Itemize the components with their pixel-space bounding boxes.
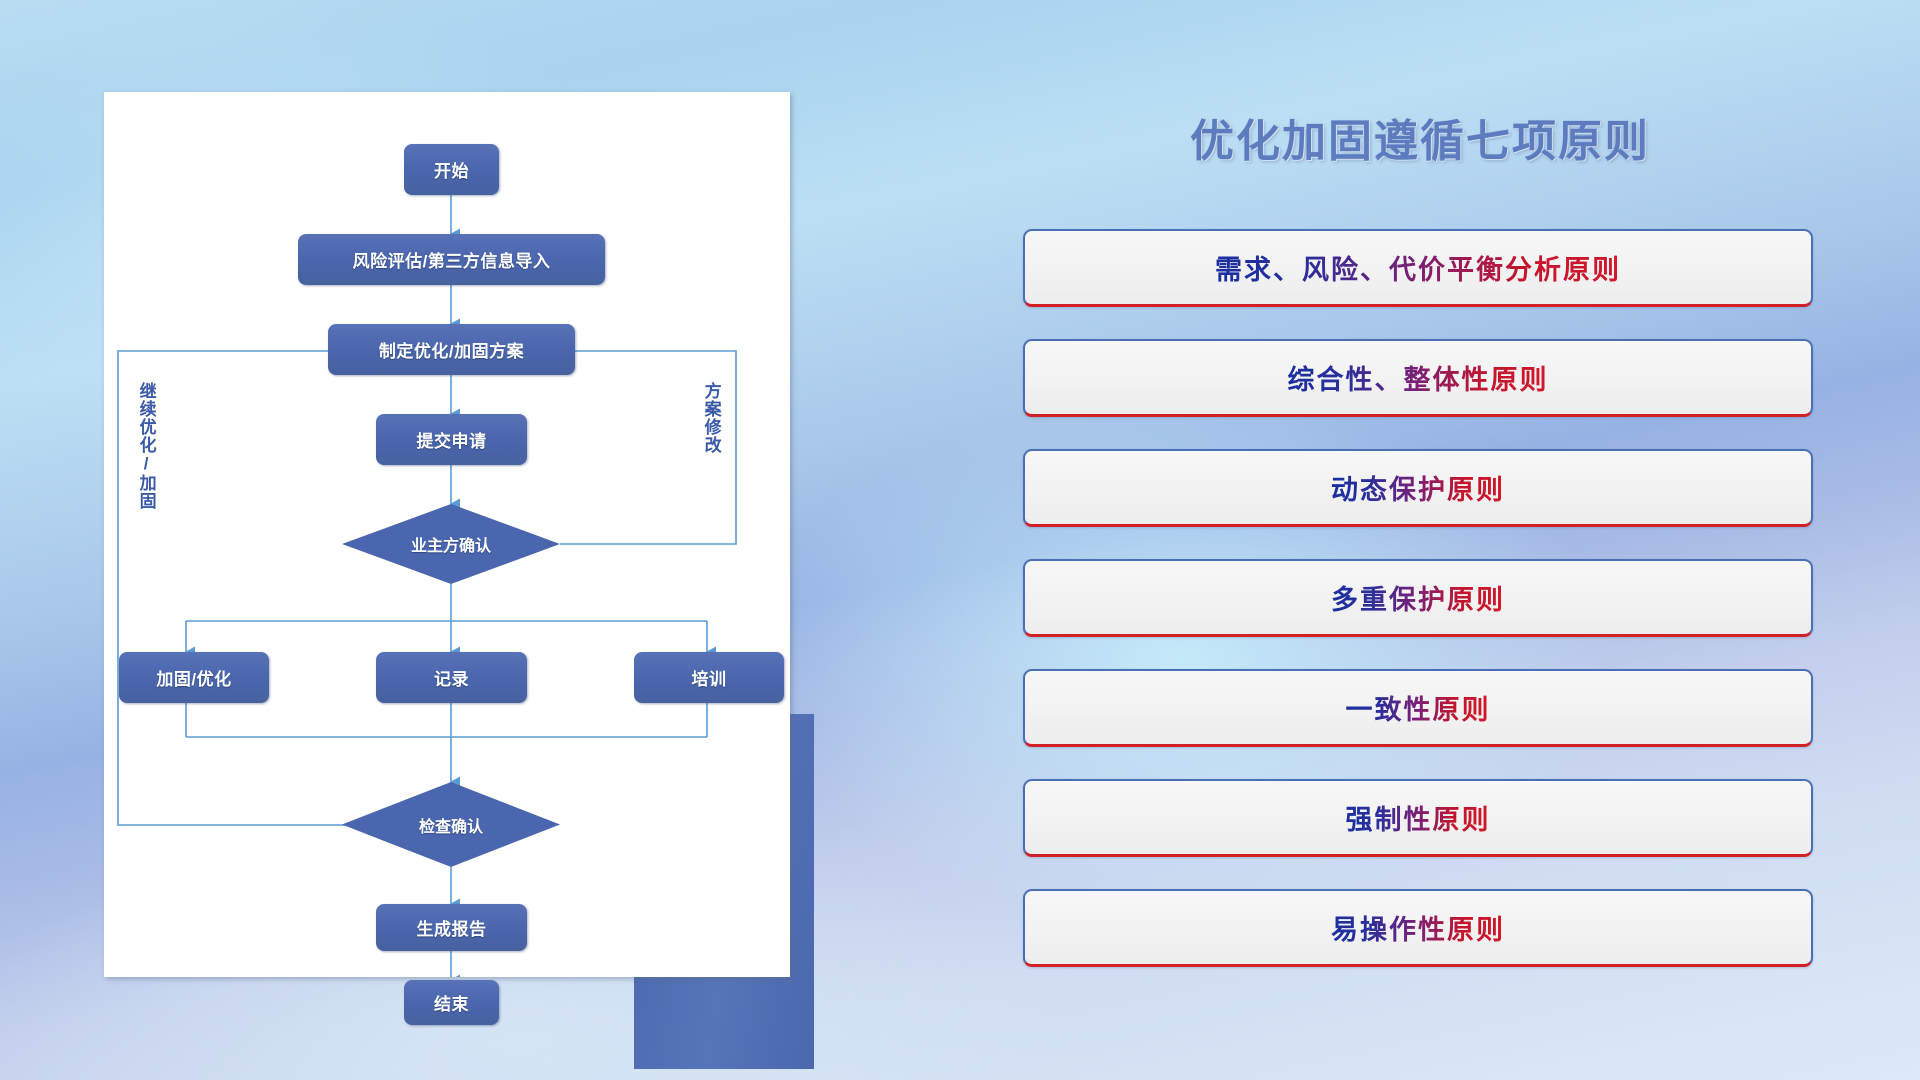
flow-edge-label-plan-revision: 方案修改 — [702, 382, 720, 454]
principles-list: 需求、风险、代价平衡分析原则 综合性、整体性原则 动态保护原则 多重保护原则 一… — [1023, 229, 1813, 999]
flow-node-plan[interactable]: 制定优化/加固方案 — [328, 324, 575, 375]
flow-decision-owner-confirm[interactable]: 业主方确认 — [342, 504, 560, 584]
flow-node-end[interactable]: 结束 — [404, 980, 499, 1025]
flowchart-panel: 开始 风险评估/第三方信息导入 制定优化/加固方案 提交申请 业主方确认 加固/… — [104, 92, 790, 977]
principle-card-4-label: 多重保护原则 — [1331, 578, 1505, 617]
principle-card-2[interactable]: 综合性、整体性原则 — [1023, 339, 1813, 417]
principle-card-4[interactable]: 多重保护原则 — [1023, 559, 1813, 637]
flow-decision-owner-confirm-label: 业主方确认 — [411, 532, 491, 556]
principle-card-3-label: 动态保护原则 — [1331, 468, 1505, 507]
principle-card-6-label: 强制性原则 — [1346, 798, 1491, 837]
flow-node-start[interactable]: 开始 — [404, 144, 499, 195]
flow-node-end-label: 结束 — [434, 990, 469, 1015]
flow-node-record[interactable]: 记录 — [376, 652, 527, 703]
flow-decision-check-confirm[interactable]: 检查确认 — [342, 782, 560, 867]
flow-node-submit-application-label: 提交申请 — [417, 427, 487, 452]
principle-card-5[interactable]: 一致性原则 — [1023, 669, 1813, 747]
flow-node-training-label: 培训 — [692, 665, 727, 690]
slide-root: 开始 风险评估/第三方信息导入 制定优化/加固方案 提交申请 业主方确认 加固/… — [0, 0, 1920, 1080]
flow-node-training[interactable]: 培训 — [634, 652, 784, 703]
principle-card-1-label: 需求、风险、代价平衡分析原则 — [1215, 248, 1621, 287]
flow-node-reinforce-label: 加固/优化 — [156, 665, 231, 690]
principles-column: 优化加固遵循七项原则 需求、风险、代价平衡分析原则 综合性、整体性原则 动态保护… — [1020, 0, 1840, 1080]
flow-node-record-label: 记录 — [434, 665, 469, 690]
flow-node-reinforce[interactable]: 加固/优化 — [119, 652, 269, 703]
principle-card-3[interactable]: 动态保护原则 — [1023, 449, 1813, 527]
principle-card-7[interactable]: 易操作性原则 — [1023, 889, 1813, 967]
flow-node-plan-label: 制定优化/加固方案 — [379, 337, 524, 362]
flow-node-risk-assessment-label: 风险评估/第三方信息导入 — [353, 247, 551, 272]
principle-card-2-label: 综合性、整体性原则 — [1288, 358, 1549, 397]
principle-card-5-label: 一致性原则 — [1346, 688, 1491, 727]
flow-node-generate-report-label: 生成报告 — [417, 915, 487, 940]
flow-edge-label-continue-optimize: 继续优化/加固 — [137, 382, 155, 510]
principle-card-1[interactable]: 需求、风险、代价平衡分析原则 — [1023, 229, 1813, 307]
flow-node-start-label: 开始 — [434, 157, 469, 182]
page-title: 优化加固遵循七项原则 — [1020, 105, 1820, 169]
flow-decision-check-confirm-label: 检查确认 — [419, 813, 483, 837]
flow-node-risk-assessment[interactable]: 风险评估/第三方信息导入 — [298, 234, 605, 285]
principle-card-6[interactable]: 强制性原则 — [1023, 779, 1813, 857]
flow-node-submit-application[interactable]: 提交申请 — [376, 414, 527, 465]
principle-card-7-label: 易操作性原则 — [1331, 908, 1505, 947]
flowchart-panel-wrapper: 开始 风险评估/第三方信息导入 制定优化/加固方案 提交申请 业主方确认 加固/… — [104, 92, 794, 969]
flow-node-generate-report[interactable]: 生成报告 — [376, 904, 527, 951]
